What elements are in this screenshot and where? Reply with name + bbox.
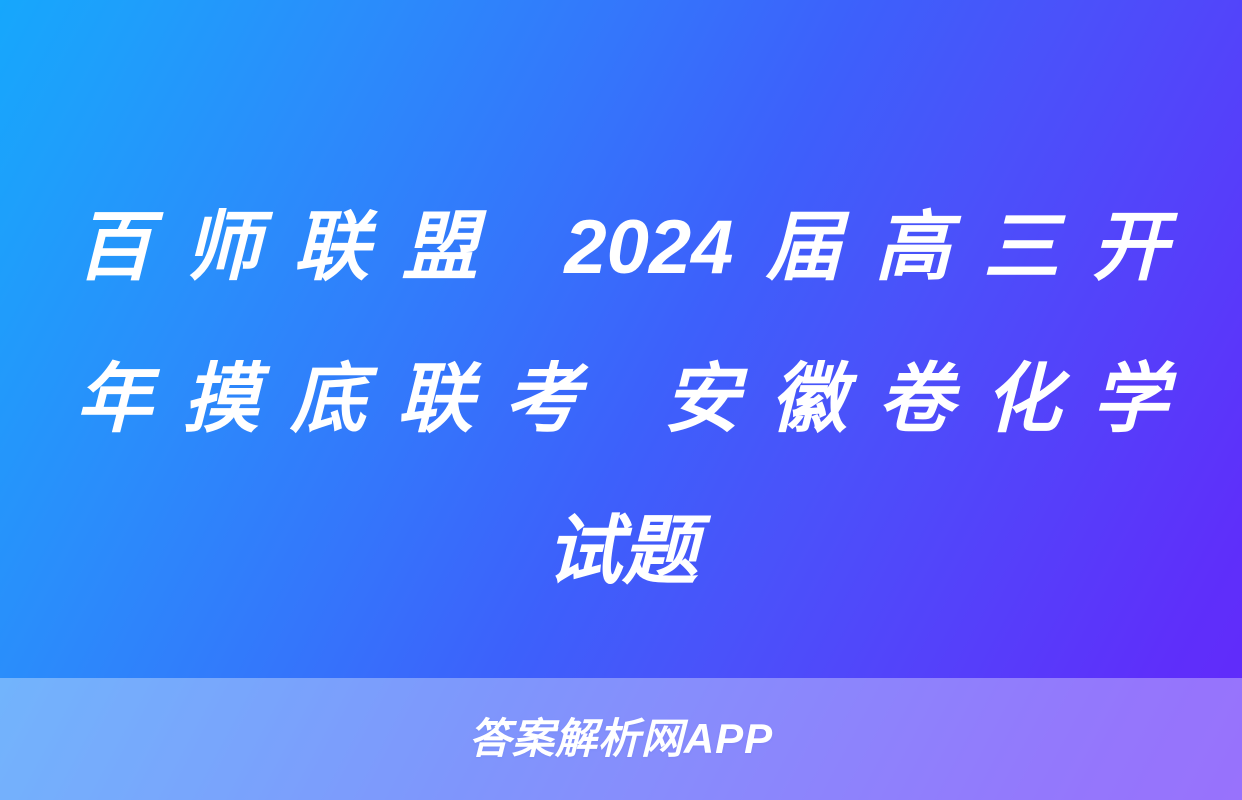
- poster-container: 百师联盟 2024届高三开 年摸底联考 安徽卷化学 试题 答案解析网APP: [0, 0, 1242, 800]
- app-watermark-label: 答案解析网APP: [469, 718, 773, 760]
- title-line-2: 年摸底联考 安徽卷化学: [76, 324, 1168, 476]
- footer-band: 答案解析网APP: [0, 678, 1242, 800]
- poster-title: 百师联盟 2024届高三开 年摸底联考 安徽卷化学 试题: [76, 172, 1168, 624]
- title-line-1: 百师联盟 2024届高三开: [76, 172, 1168, 324]
- title-line-3: 试题: [76, 476, 1168, 628]
